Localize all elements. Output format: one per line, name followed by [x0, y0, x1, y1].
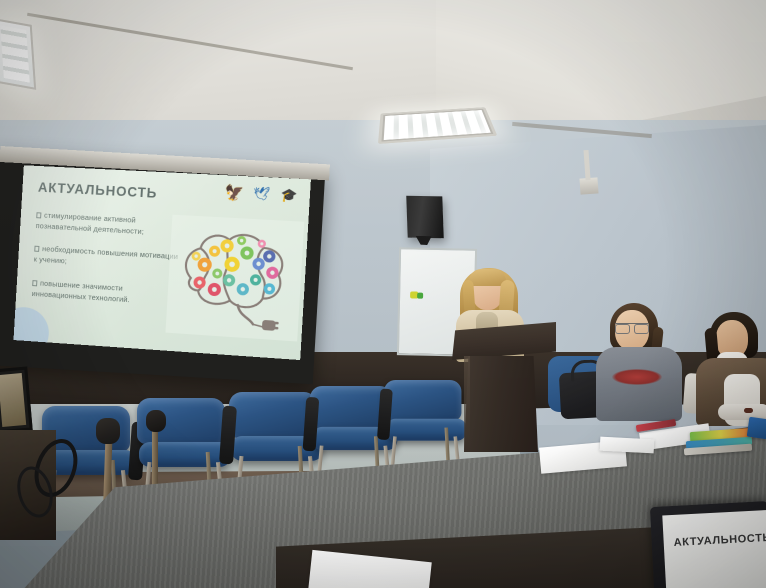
ceiling-light-secondary [0, 18, 36, 90]
attendee-gray-sweatshirt [596, 303, 682, 419]
slide-bullet-item: повышение значимости инновационных техно… [31, 278, 180, 309]
microphone-head [96, 418, 120, 444]
slide-bullet-list: стимулирование активной познавательной д… [31, 210, 184, 308]
podium [452, 322, 556, 450]
slide-bullet-item: стимулирование активной познавательной д… [35, 210, 184, 239]
wall-fixture [579, 177, 598, 194]
graduation-cap-icon: 🎓 [279, 188, 300, 202]
classroom-photo: АКТУАЛЬНОСТЬ стимулирование активной поз… [0, 0, 766, 588]
slide-bullet-text: стимулирование активной познавательной д… [36, 211, 145, 236]
eagle-icon: 🦅 [224, 185, 245, 201]
slide-bullet-item: необходимость повышения мотивации к учен… [33, 244, 182, 274]
glasses-icon [615, 323, 649, 331]
laptop-screen[interactable]: АКТУАЛЬНОСТЬ [650, 501, 766, 588]
laptop-slide-title: АКТУАЛЬНОСТЬ [673, 532, 766, 549]
whiteboard-magnet-green [417, 293, 423, 299]
bracelet [744, 408, 753, 413]
book [747, 417, 766, 440]
podium-body [464, 356, 538, 452]
laptop-display: АКТУАЛЬНОСТЬ [662, 510, 766, 588]
bullet-box-icon [36, 212, 41, 218]
chair-back [384, 380, 461, 420]
attendee-brown-shawl [700, 312, 766, 424]
projection-screen-surface: АКТУАЛЬНОСТЬ стимулирование активной поз… [13, 165, 310, 360]
microphone-head [146, 410, 166, 432]
framed-picture [0, 367, 33, 434]
slide-bullet-text: повышение значимости инновационных техно… [32, 279, 131, 304]
presentation-slide: АКТУАЛЬНОСТЬ стимулирование активной поз… [13, 165, 310, 360]
wall-speaker [406, 196, 444, 239]
slide-bullet-text: необходимость повышения мотивации к учен… [34, 245, 179, 266]
podium-edge [464, 356, 470, 452]
podium-top [452, 322, 556, 360]
bird-icon: 🕊 [251, 187, 272, 201]
sweatshirt-print [612, 369, 662, 385]
blue-bird-emblem-logo: 🕊 [251, 187, 272, 202]
brain-gears-illustration [165, 215, 304, 342]
bullet-box-icon [34, 246, 39, 252]
paper-sheet [600, 437, 655, 454]
brain-gears-svg [165, 215, 304, 342]
colorful-institute-logo: 🎓 [279, 188, 300, 203]
bullet-box-icon [32, 280, 37, 286]
slide-decoration-circle [13, 306, 50, 360]
projection-screen: АКТУАЛЬНОСТЬ стимулирование активной поз… [0, 150, 325, 384]
russian-coat-of-arms-logo: 🦅 [224, 185, 245, 202]
